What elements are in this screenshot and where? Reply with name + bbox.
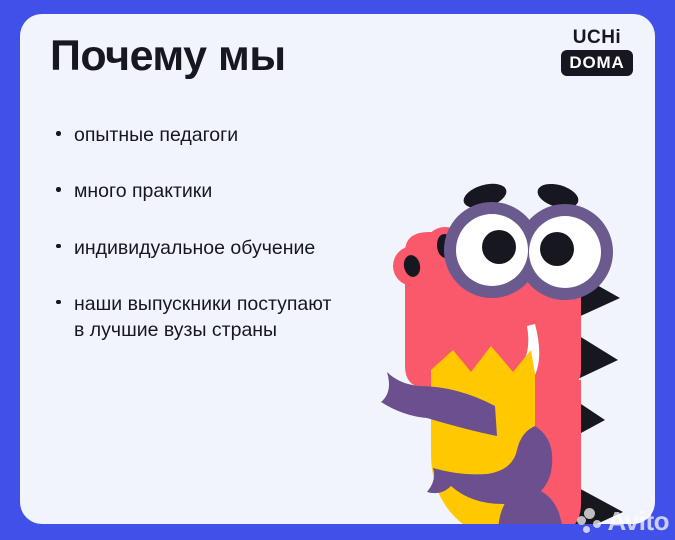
list-item-label: индивидуальное обучение xyxy=(74,235,346,261)
dinosaur-mascot-illustration xyxy=(375,174,655,524)
list-item: индивидуальное обучение xyxy=(56,235,346,261)
bullet-icon xyxy=(56,235,74,249)
list-item: наши выпускники поступают в лучшие вузы … xyxy=(56,291,346,344)
list-item-label: много практики xyxy=(74,178,346,204)
list-item-label: опытные педагоги xyxy=(74,122,346,148)
content-card: Почему мы опытные педагоги много практик… xyxy=(20,14,655,524)
bullet-icon xyxy=(56,122,74,136)
benefits-list: опытные педагоги много практики индивиду… xyxy=(56,122,346,374)
list-item: опытные педагоги xyxy=(56,122,346,148)
brand-logo-wordmark: UCHi xyxy=(561,28,633,47)
brand-logo: UCHi DOMA xyxy=(561,28,633,76)
list-item: много практики xyxy=(56,178,346,204)
bullet-icon xyxy=(56,291,74,305)
page-title: Почему мы xyxy=(50,34,286,79)
bullet-icon xyxy=(56,178,74,192)
brand-logo-badge: DOMA xyxy=(561,50,633,76)
promo-banner: Почему мы опытные педагоги много практик… xyxy=(0,0,675,540)
list-item-label: наши выпускники поступают в лучшие вузы … xyxy=(74,291,346,344)
